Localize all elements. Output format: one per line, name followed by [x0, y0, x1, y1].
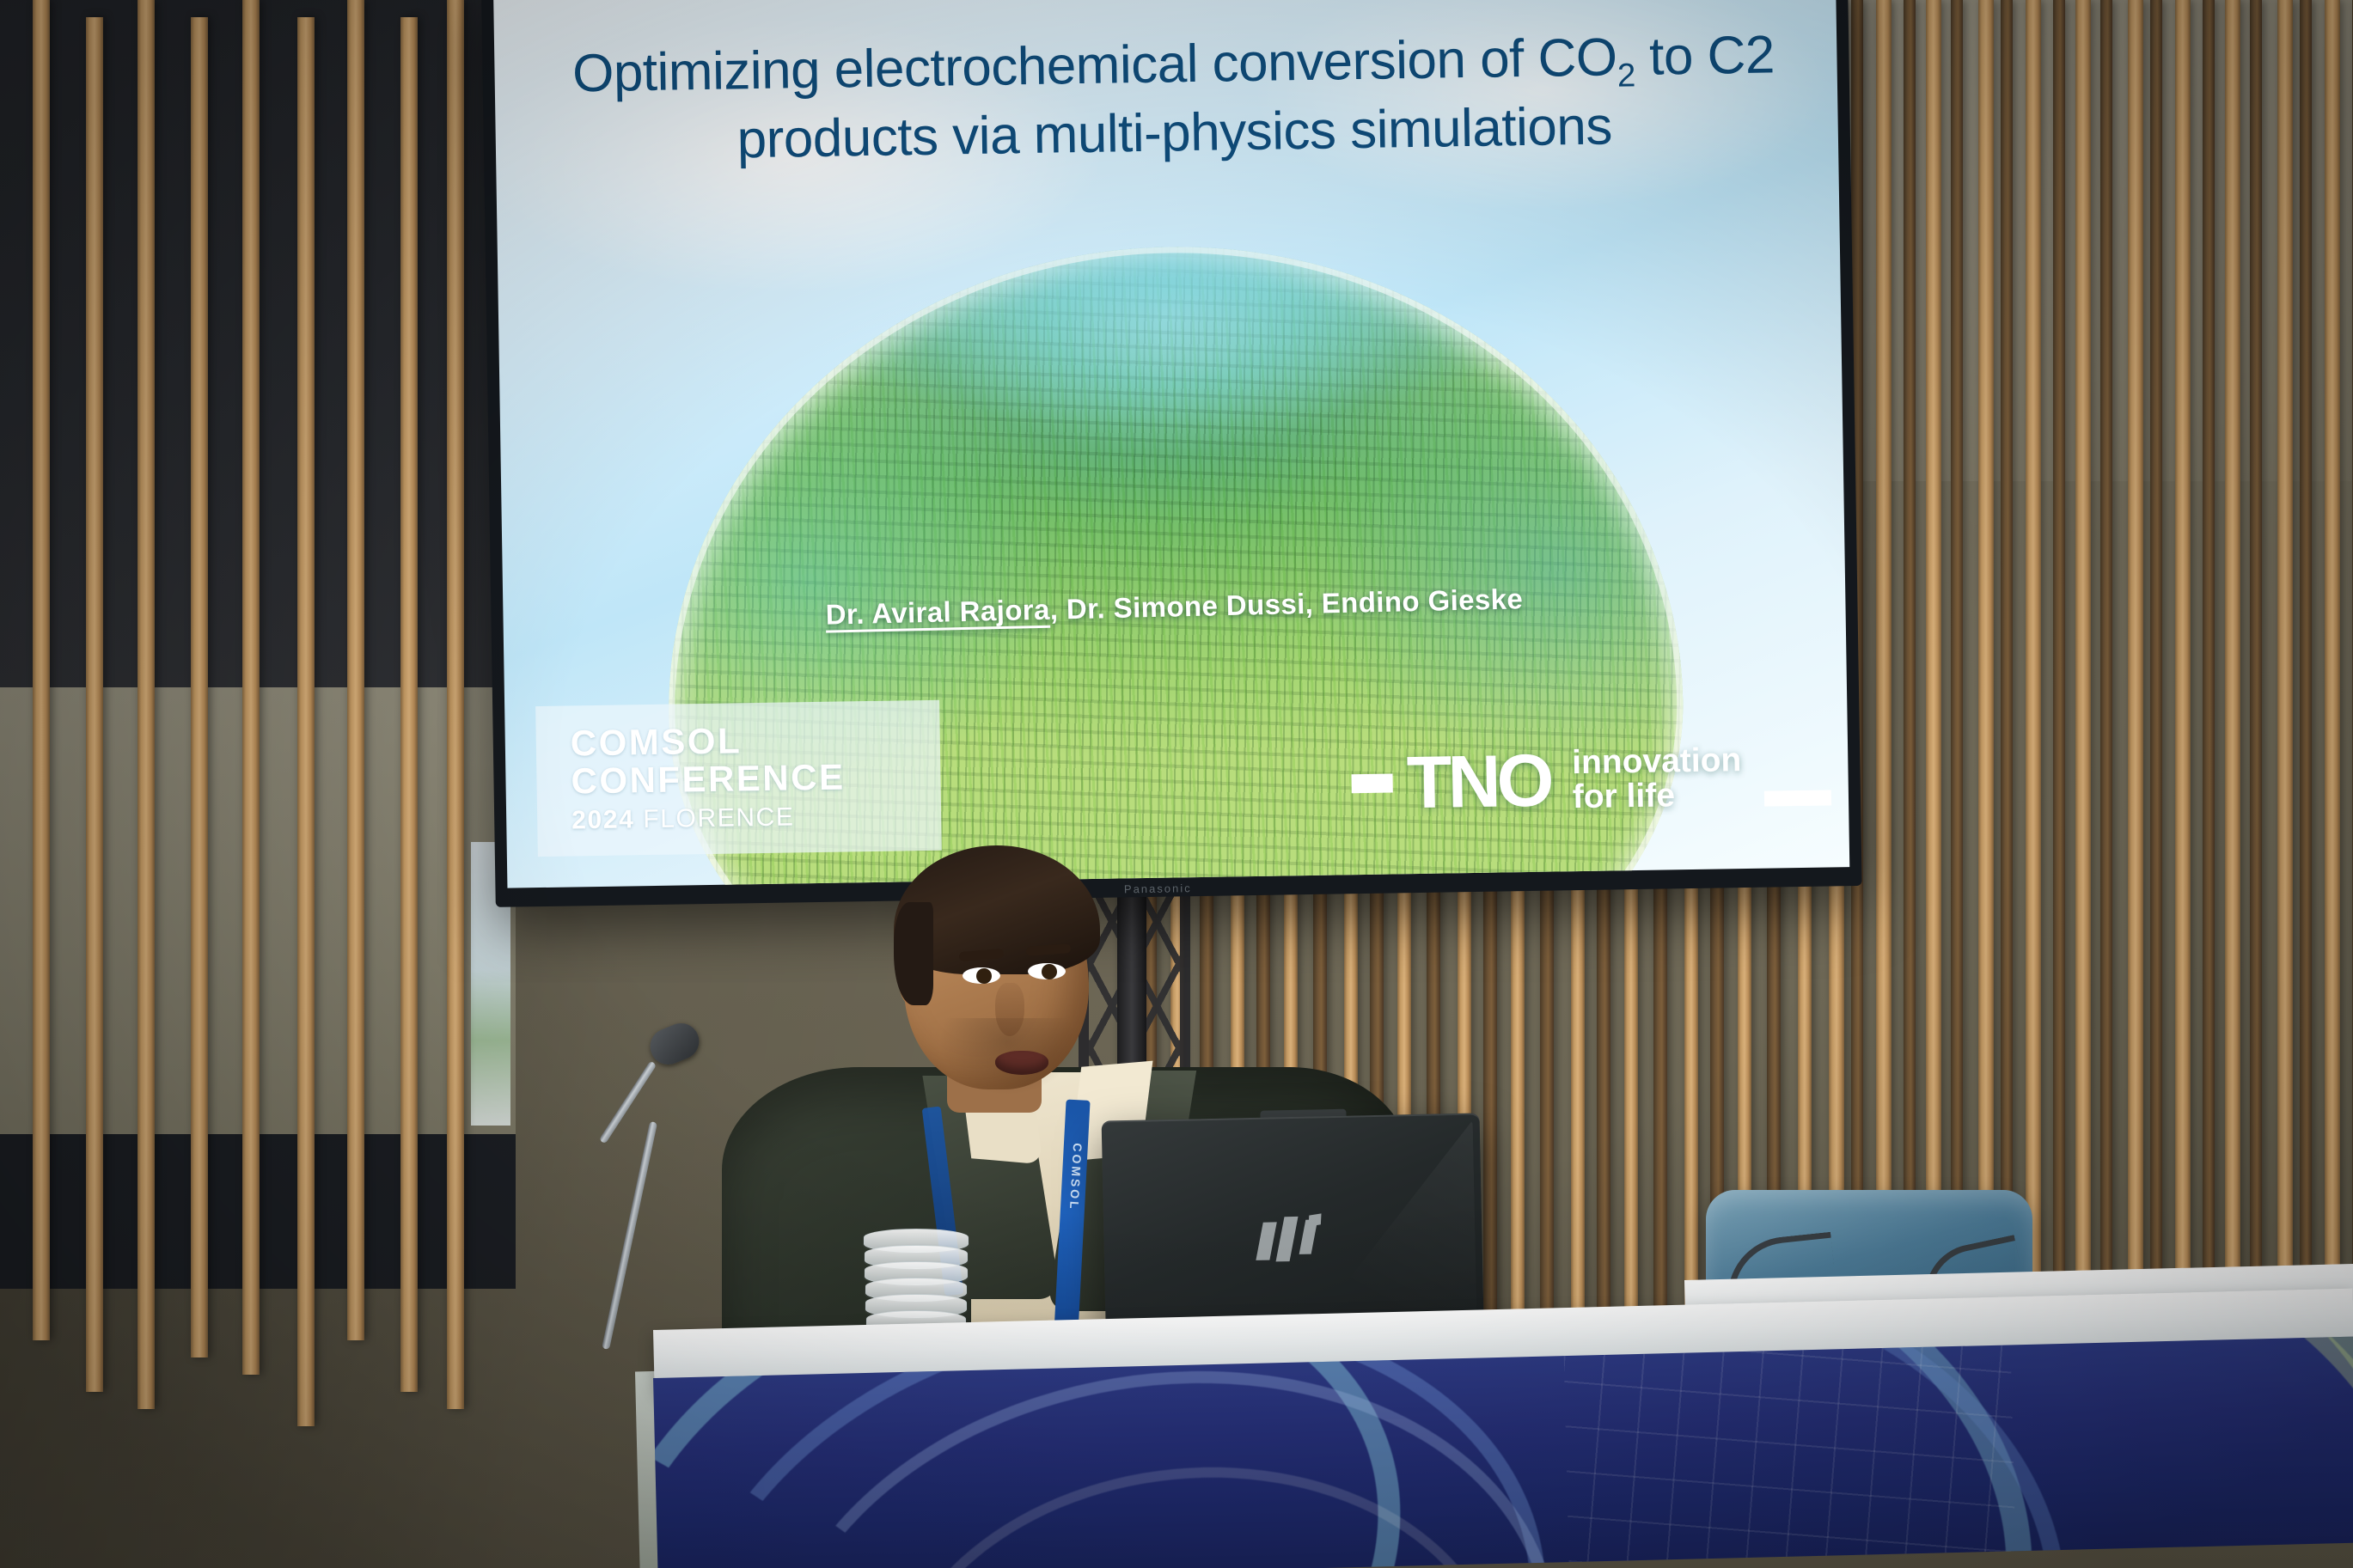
- comsol-logo-year: 2024: [571, 806, 635, 835]
- presenter-mouth: [995, 1051, 1048, 1075]
- slide-title-line1-part-b: to C2: [1635, 25, 1775, 87]
- slide-title: Optimizing electrochemical conversion of…: [571, 24, 1776, 174]
- comsol-logo-city: FLORENCE: [643, 803, 795, 834]
- wall-panel-light: [0, 687, 516, 1151]
- presenter-pupil-right: [1042, 964, 1057, 979]
- desk-panel-grid: [1564, 1345, 2016, 1562]
- presenter-hair-side: [894, 902, 933, 1005]
- tno-tagline: innovation for life: [1572, 744, 1742, 815]
- comsol-conference-logo: COMSOL CONFERENCE 2024 FLORENCE: [535, 700, 942, 857]
- comsol-logo-line2: CONFERENCE: [571, 756, 941, 799]
- tno-logo-bar-right: [1764, 790, 1831, 806]
- slide-title-line2: products via multi-physics simulations: [736, 96, 1612, 169]
- tno-tagline-line1: innovation: [1572, 744, 1742, 781]
- tno-logo: TNO innovation for life: [1351, 742, 1831, 818]
- acoustic-panel-lower: [0, 1134, 516, 1289]
- presenter-pupil-left: [976, 968, 992, 984]
- slide-title-subscript: 2: [1617, 57, 1636, 94]
- wall-display: Optimizing electrochemical conversion of…: [481, 0, 1862, 907]
- acoustic-panel-upper: [0, 0, 516, 687]
- comsol-logo-line1: COMSOL: [570, 719, 940, 762]
- desk-front-panel: [653, 1336, 2353, 1568]
- tno-tagline-line2: for life: [1572, 778, 1742, 815]
- comsol-logo-line3: 2024 FLORENCE: [571, 801, 941, 836]
- conference-room-scene: Optimizing electrochemical conversion of…: [0, 0, 2353, 1568]
- author-primary: Dr. Aviral Rajora: [825, 594, 1050, 631]
- lanyard-label: COMSOL: [1057, 1142, 1085, 1211]
- tno-logo-bar-left: [1352, 774, 1393, 794]
- tuf-brand-icon: [1259, 1216, 1327, 1267]
- tno-wordmark: TNO: [1406, 751, 1550, 814]
- display-screen: Optimizing electrochemical conversion of…: [493, 0, 1849, 888]
- wall-panel-upper-right: [1822, 0, 2353, 481]
- presenter-nose: [995, 983, 1024, 1036]
